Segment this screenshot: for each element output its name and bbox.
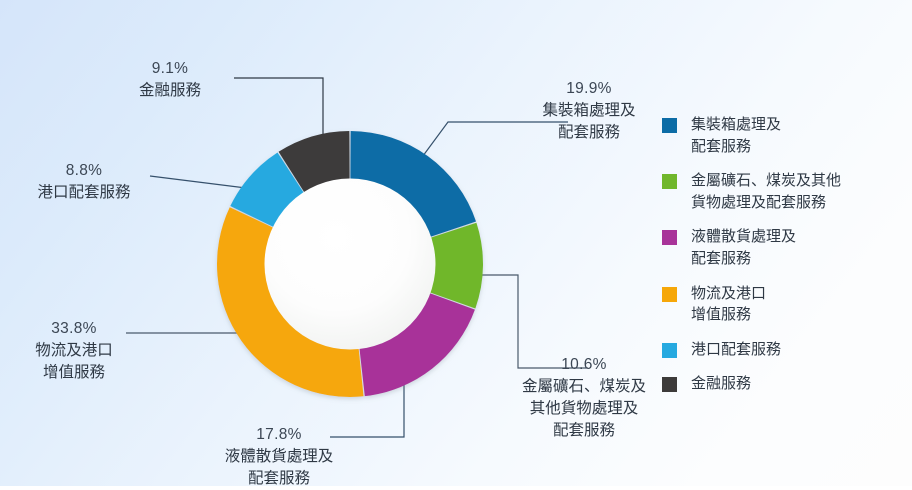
callout-container-line2: 配套服務 xyxy=(508,122,670,144)
donut-slice[interactable] xyxy=(430,223,483,309)
callout-financial: 9.1% 金融服務 xyxy=(96,58,244,102)
legend-item-label: 金屬礦石、煤炭及其他 貨物處理及配套服務 xyxy=(691,170,841,213)
callout-liquid-bulk: 17.8% 液體散貨處理及 配套服務 xyxy=(196,424,362,490)
callout-logistics-line1: 物流及港口 xyxy=(0,340,148,362)
callout-financial-value: 9.1% xyxy=(96,58,244,80)
callout-metal-ore-line2: 其他貨物處理及 xyxy=(504,398,664,420)
callout-metal-ore-value: 10.6% xyxy=(504,354,664,376)
chart-legend: 集裝箱處理及 配套服務金屬礦石、煤炭及其他 貨物處理及配套服務液體散貨處理及 配… xyxy=(662,114,906,395)
legend-item-label: 物流及港口 增值服務 xyxy=(691,283,766,326)
legend-item-label: 港口配套服務 xyxy=(691,339,781,361)
callout-metal-ore-line3: 配套服務 xyxy=(504,420,664,442)
callout-logistics: 33.8% 物流及港口 增值服務 xyxy=(0,318,148,384)
legend-item[interactable]: 集裝箱處理及 配套服務 xyxy=(662,114,906,157)
legend-swatch-logistics xyxy=(662,287,677,302)
legend-item[interactable]: 金屬礦石、煤炭及其他 貨物處理及配套服務 xyxy=(662,170,906,213)
legend-swatch-liquid-bulk xyxy=(662,230,677,245)
callout-container: 19.9% 集裝箱處理及 配套服務 xyxy=(508,78,670,144)
legend-item[interactable]: 液體散貨處理及 配套服務 xyxy=(662,226,906,269)
donut-hole xyxy=(265,179,436,350)
donut-chart xyxy=(216,130,484,398)
callout-port-support: 8.8% 港口配套服務 xyxy=(8,160,160,204)
callout-container-line1: 集裝箱處理及 xyxy=(508,100,670,122)
callout-logistics-line2: 增值服務 xyxy=(0,362,148,384)
callout-metal-ore-line1: 金屬礦石、煤炭及 xyxy=(504,376,664,398)
callout-logistics-value: 33.8% xyxy=(0,318,148,340)
callout-liquid-bulk-line2: 配套服務 xyxy=(196,468,362,490)
legend-swatch-metal-ore xyxy=(662,174,677,189)
donut-chart-svg xyxy=(216,130,484,398)
legend-item[interactable]: 金融服務 xyxy=(662,373,906,395)
callout-metal-ore: 10.6% 金屬礦石、煤炭及 其他貨物處理及 配套服務 xyxy=(504,354,664,442)
callout-port-support-line1: 港口配套服務 xyxy=(8,182,160,204)
legend-item-label: 集裝箱處理及 配套服務 xyxy=(691,114,781,157)
callout-liquid-bulk-line1: 液體散貨處理及 xyxy=(196,446,362,468)
legend-swatch-container xyxy=(662,118,677,133)
callout-port-support-value: 8.8% xyxy=(8,160,160,182)
callout-container-value: 19.9% xyxy=(508,78,670,100)
chart-canvas: 19.9% 集裝箱處理及 配套服務 9.1% 金融服務 8.8% 港口配套服務 … xyxy=(0,0,912,486)
legend-item[interactable]: 物流及港口 增值服務 xyxy=(662,283,906,326)
legend-item-label: 金融服務 xyxy=(691,373,751,395)
legend-swatch-port-support xyxy=(662,343,677,358)
callout-financial-line1: 金融服務 xyxy=(96,80,244,102)
legend-item[interactable]: 港口配套服務 xyxy=(662,339,906,361)
legend-item-label: 液體散貨處理及 配套服務 xyxy=(691,226,796,269)
callout-liquid-bulk-value: 17.8% xyxy=(196,424,362,446)
legend-swatch-financial xyxy=(662,377,677,392)
